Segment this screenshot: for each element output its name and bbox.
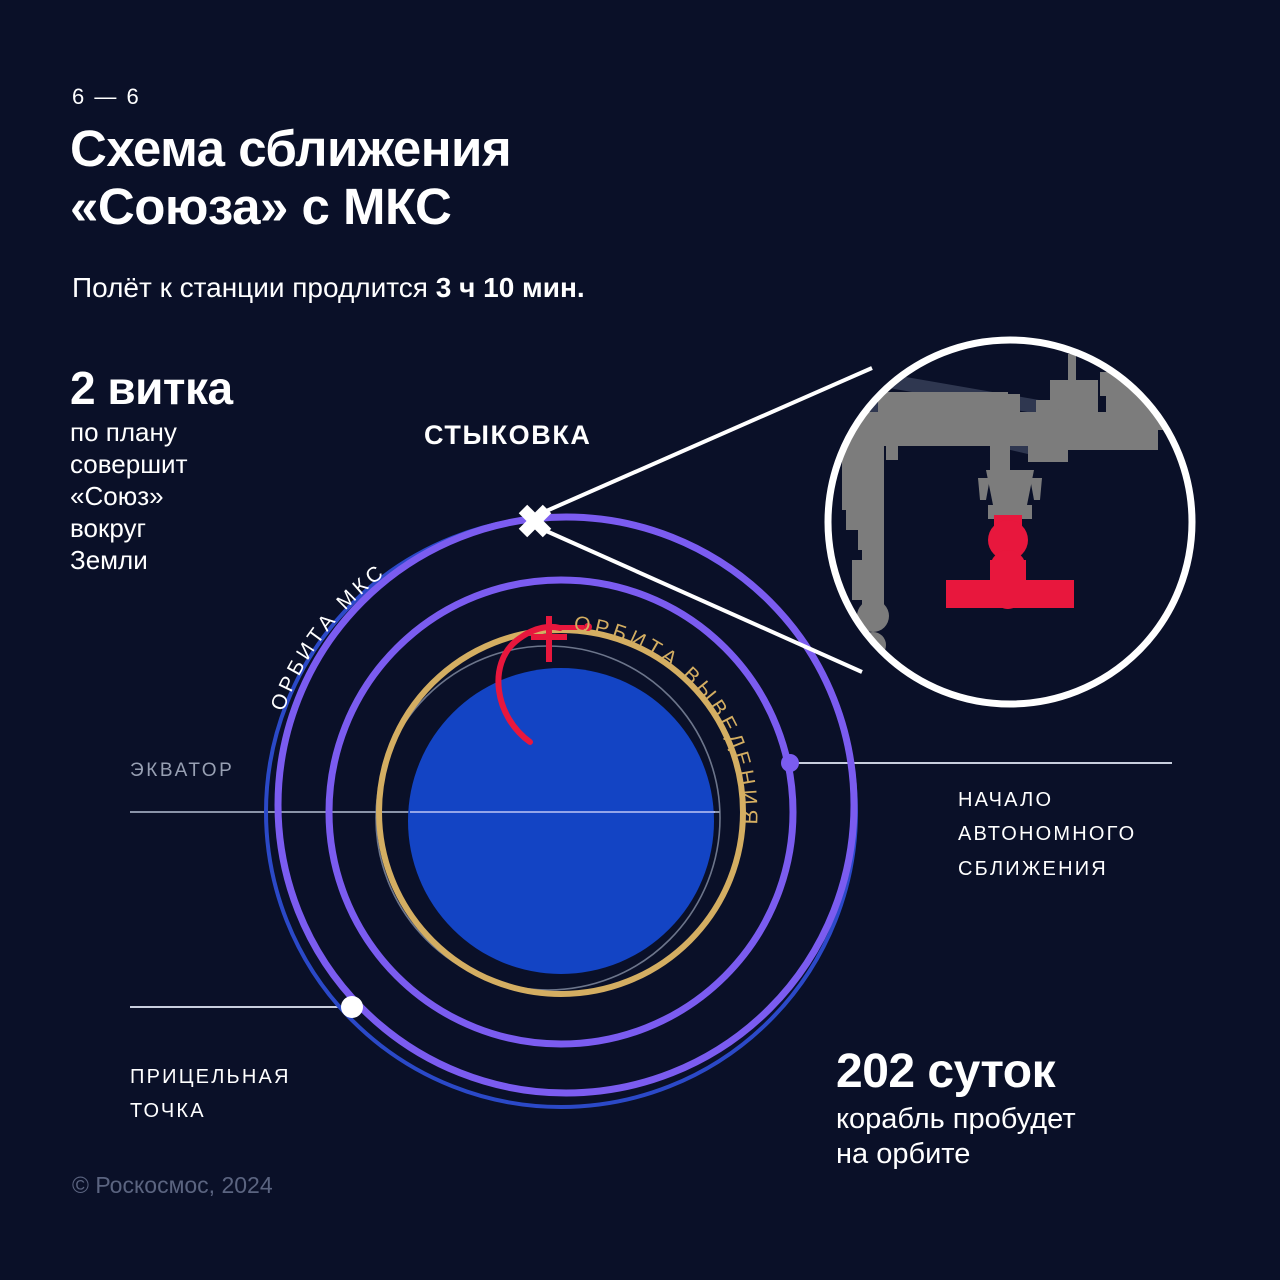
page-number: 6 — 6	[72, 84, 141, 110]
copyright-notice: © Роскосмос, 2024	[72, 1172, 273, 1199]
label-target-point: ПРИЦЕЛЬНАЯ ТОЧКА	[130, 1060, 291, 1129]
docking-inset-scene	[820, 330, 1204, 714]
stat-duration-value: 202 суток	[836, 1048, 1196, 1096]
target-point-dot	[341, 996, 363, 1018]
label-equator: ЭКВАТОР	[130, 760, 234, 782]
label-autonomous-start: НАЧАЛО АВТОНОМНОГО СБЛИЖЕНИЯ	[958, 783, 1136, 886]
earth	[408, 668, 714, 974]
autonomous-start-dot	[781, 754, 799, 772]
stat-orbits: 2 витка по плану совершит «Союз» вокруг …	[70, 365, 340, 577]
page-subtitle: Полёт к станции продлится 3 ч 10 мин.	[72, 272, 585, 304]
stat-orbits-description: по плану совершит «Союз» вокруг Земли	[70, 417, 340, 577]
subtitle-bold: 3 ч 10 мин.	[436, 272, 585, 303]
subtitle-plain: Полёт к станции продлится	[72, 272, 436, 303]
infographic-canvas: ОРБИТА МКС ОРБИТА ВЫВЕДЕНИЯ	[0, 0, 1280, 1280]
iss-orbit-label: ОРБИТА МКС	[267, 559, 391, 714]
page-title: Схема сближения «Союза» с МКС	[70, 120, 511, 235]
label-docking: СТЫКОВКА	[424, 420, 592, 451]
stat-orbits-value: 2 витка	[70, 365, 340, 411]
magnifier-leader-top	[544, 368, 872, 512]
stat-duration-description: корабль пробудет на орбите	[836, 1102, 1196, 1173]
stat-duration: 202 суток корабль пробудет на орбите	[836, 1048, 1196, 1173]
